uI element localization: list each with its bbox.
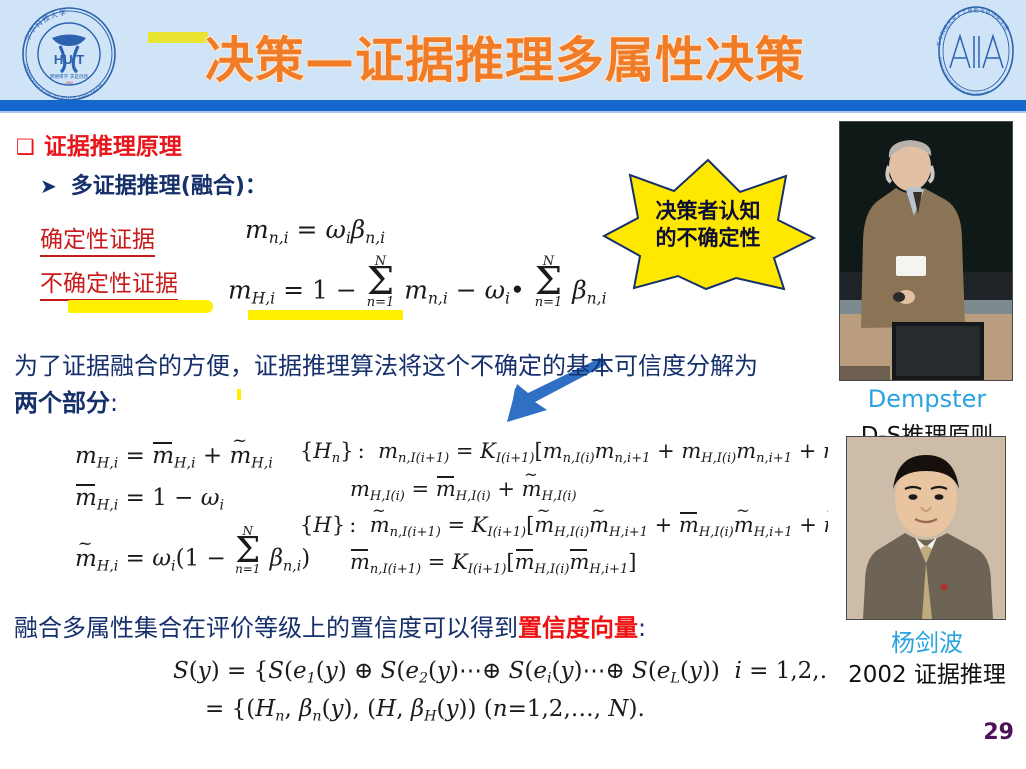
page-number: 29 xyxy=(828,720,1014,745)
paragraph-two-suffix: : xyxy=(638,614,646,642)
sub-heading: ➤多证据推理(融合)： xyxy=(40,168,267,200)
caption-name-dempster: Dempster xyxy=(828,385,1026,413)
formula-m-Hi: mH,i = 1 − NΣn=1 mn,i − ωi• NΣn=1 βn,i xyxy=(228,255,607,309)
slide-title: 决策—证据推理多属性决策 xyxy=(175,20,835,92)
caption-sub-yangjianbo: 2002 证据推理 xyxy=(828,655,1026,689)
formula-mtilde: mH,i = ωi(1 − NΣn=1 βn,i) xyxy=(75,526,310,576)
section-heading: ❑证据推理原理 xyxy=(16,127,182,161)
highlighter-mark-uncertain xyxy=(68,300,213,313)
highlighter-mark-sum xyxy=(248,310,403,320)
slide-body: ❑证据推理原理 ➤多证据推理(融合)： 确定性证据 不确定性证据 mn,i = … xyxy=(0,113,828,769)
svg-text:HU T: HU T xyxy=(54,52,84,67)
header-blue-bar xyxy=(0,100,1026,111)
photo-dempster xyxy=(839,121,1013,381)
sidebar: Dempster D-S推理原则 杨剑波 2002 证据推理 29 xyxy=(828,113,1026,769)
label-certain-evidence: 确定性证据 xyxy=(40,220,155,257)
paragraph-two: 融合多属性集合在评价等级上的置信度可以得到置信度向量: xyxy=(14,608,646,643)
svg-text:明德厚学 求是创新: 明德厚学 求是创新 xyxy=(50,73,89,80)
svg-text:1952: 1952 xyxy=(65,81,73,85)
slide-header: 华中科技大学 UNIVERSITY OF SCIENCE AND TECH HU… xyxy=(0,0,1026,100)
formula-split-sum: mH,i = mH,i + mH,i xyxy=(75,443,273,472)
square-bullet-icon: ❑ xyxy=(16,135,35,159)
caption-name-yangjianbo: 杨剑波 xyxy=(828,623,1026,658)
formula-Sy-line1: S(y) = {S(e1(y) ⊕ S(e2(y)⋯⊕ S(ei(y)⋯⊕ S(… xyxy=(173,658,887,687)
paragraph-one: 为了证据融合的方便，证据推理算法将这个不确定的基本可信度分解为 xyxy=(14,346,758,381)
formula-m-ni: mn,i = ωiβn,i xyxy=(245,215,385,247)
triangle-bullet-icon: ➤ xyxy=(40,174,57,198)
formula-mbar: mH,i = 1 − ωi xyxy=(75,485,224,514)
hust-logo: 华中科技大学 UNIVERSITY OF SCIENCE AND TECH HU… xyxy=(4,2,134,100)
paragraph-two-highlight: 置信度向量 xyxy=(518,614,638,642)
label-uncertain-evidence: 不确定性证据 xyxy=(40,264,178,301)
aia-logo: 华中科技大学人工智能与自动化学院 School of Artificial In… xyxy=(930,2,1022,100)
highlighter-mark-dot xyxy=(237,389,241,400)
section-heading-label: 证据推理原理 xyxy=(44,134,182,160)
formula-mbar-recursion: mn,I(i+1) = KI(i+1)[mH,I(i)mH,i+1] xyxy=(350,550,636,577)
paragraph-one-bold: 两个部分: xyxy=(14,383,118,418)
paragraph-two-prefix: 融合多属性集合在评价等级上的置信度可以得到 xyxy=(14,614,518,642)
callout-star xyxy=(600,158,816,291)
paragraph-one-bold-text: 两个部分 xyxy=(14,389,110,417)
paragraph-one-colon: : xyxy=(110,389,118,417)
sub-heading-label: 多证据推理(融合)： xyxy=(71,174,267,199)
svg-text:华中科技大学人工智能与自动化学院: 华中科技大学人工智能与自动化学院 xyxy=(935,6,1012,47)
formula-Sy-line2: = {(Hn, βn(y), (H, βH(y)) (n=1,2,…, N). xyxy=(205,696,645,725)
photo-yangjianbo xyxy=(846,436,1006,620)
formula-mH-split: mH,I(i) = mH,I(i) + mH,I(i) xyxy=(350,477,577,504)
